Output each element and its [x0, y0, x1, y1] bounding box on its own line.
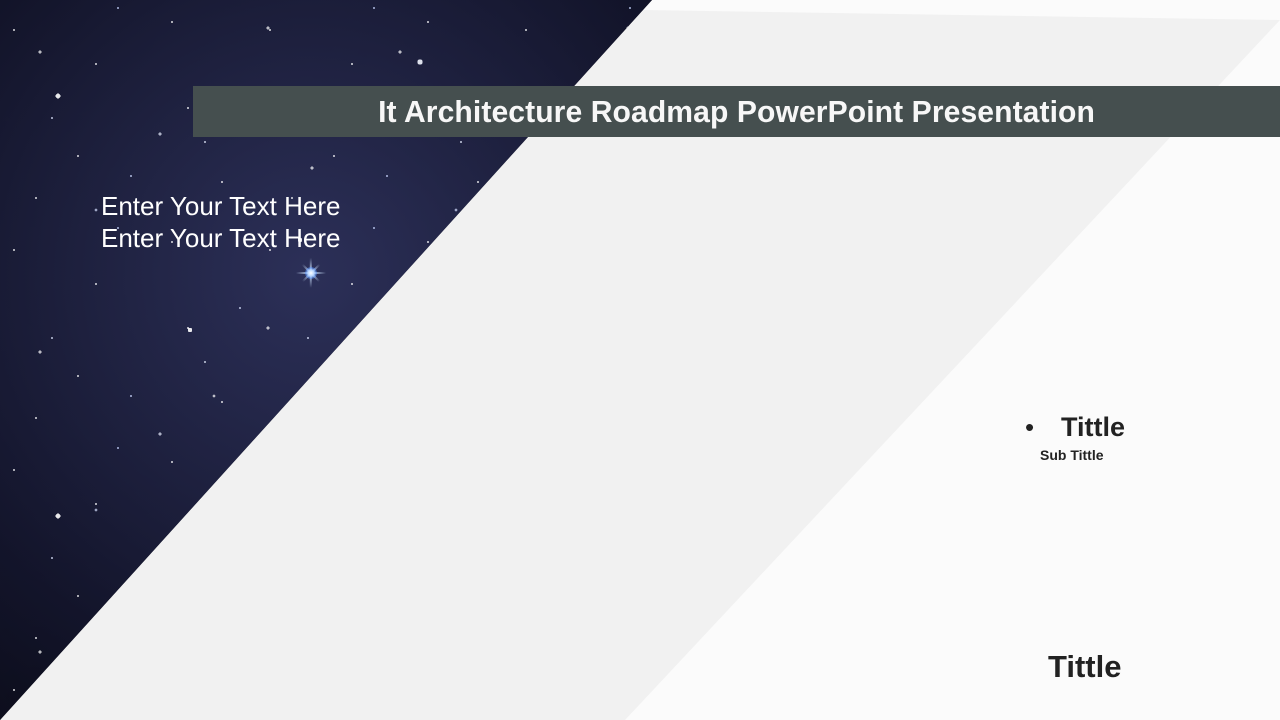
star-core: [305, 267, 317, 279]
bullet-title-text: Tittle: [1061, 413, 1125, 442]
presentation-slide: It Architecture Roadmap PowerPoint Prese…: [0, 0, 1280, 720]
bright-star-icon: [296, 258, 326, 288]
right-bullet-block[interactable]: • Tittle Sub Tittle: [1020, 413, 1270, 463]
bullet-sub-title-text: Sub Tittle: [1040, 447, 1270, 463]
slide-title: It Architecture Roadmap PowerPoint Prese…: [378, 94, 1095, 130]
slide-title-bar: It Architecture Roadmap PowerPoint Prese…: [193, 86, 1280, 137]
bullet-list-item: • Tittle: [1020, 413, 1270, 442]
left-placeholder-line-1: Enter Your Text Here: [101, 190, 340, 222]
left-placeholder-text[interactable]: Enter Your Text Here Enter Your Text Her…: [101, 190, 340, 254]
bullet-point-icon: •: [1020, 414, 1061, 440]
left-placeholder-line-2: Enter Your Text Here: [101, 222, 340, 254]
lower-title-text[interactable]: Tittle: [1048, 650, 1122, 683]
